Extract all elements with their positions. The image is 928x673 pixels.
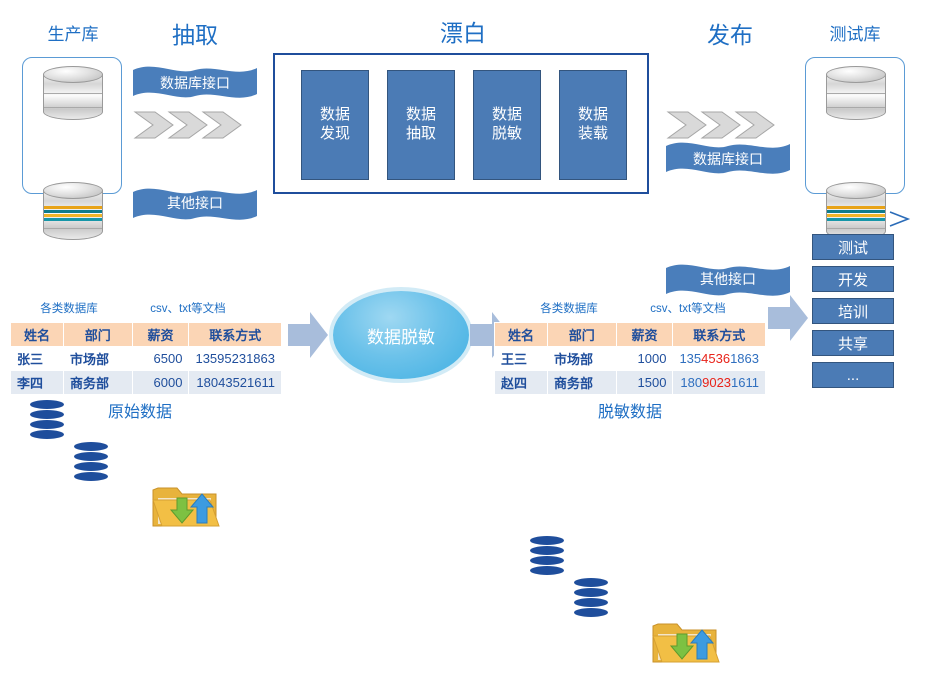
table-row: 赵四 商务部 1500 18090231611	[495, 371, 766, 395]
step-3-line1: 数据	[492, 106, 522, 123]
th-salary: 薪资	[616, 323, 673, 347]
target-database-panel	[805, 57, 905, 194]
phone-suffix: 1611	[731, 375, 759, 390]
output-button-dev[interactable]: 开发	[812, 266, 894, 292]
step-2-line2: 抽取	[406, 125, 436, 142]
source-caption: 原始数据	[40, 398, 240, 422]
block-right-arrow-icon-in	[288, 312, 328, 358]
extract-banner-top: 数据库接口	[133, 64, 257, 102]
cell-name: 张三	[11, 347, 64, 371]
masked-file-label: csv、txt等文档	[640, 300, 736, 316]
cell-phone: 18090231611	[673, 371, 766, 395]
bleach-process-panel: 数据 发现 数据 抽取 数据 脱敏 数据 装载	[273, 53, 649, 194]
publish-banner-top: 数据库接口	[666, 140, 790, 178]
extract-banner-top-label: 数据库接口	[133, 73, 257, 93]
cell-dept: 市场部	[63, 347, 132, 371]
heading-bleach: 漂白	[398, 14, 528, 48]
masked-data-table: 姓名 部门 薪资 联系方式 王三 市场部 1000 13545361863 赵四…	[494, 322, 766, 395]
publish-banner-top-label: 数据库接口	[666, 149, 790, 169]
table-row: 王三 市场部 1000 13545361863	[495, 347, 766, 371]
output-button-share[interactable]: 共享	[812, 330, 894, 356]
cell-phone: 13595231863	[189, 347, 282, 371]
publish-banner-bottom: 其他接口	[666, 260, 790, 298]
table-header-row: 姓名 部门 薪资 联系方式	[495, 323, 766, 347]
chevron-arrows-icon-2	[666, 110, 790, 140]
masked-db-label: 各类数据库	[518, 300, 620, 316]
cell-salary: 1500	[616, 371, 673, 395]
output-button-test[interactable]: 测试	[812, 234, 894, 260]
th-name: 姓名	[495, 323, 548, 347]
step-3-line2: 脱敏	[492, 125, 522, 142]
step-box-3[interactable]: 数据 脱敏	[473, 70, 541, 180]
folder-transfer-icon-2	[650, 616, 722, 668]
data-masking-process-node[interactable]: 数据脱敏	[333, 291, 469, 379]
masked-caption: 脱敏数据	[530, 398, 730, 422]
cell-phone: 18043521611	[189, 371, 282, 395]
cell-name: 赵四	[495, 371, 548, 395]
step-4-line2: 装载	[578, 125, 608, 142]
heading-extract: 抽取	[140, 16, 250, 50]
cell-salary: 6500	[132, 347, 189, 371]
output-button-test-label: 测试	[838, 237, 868, 258]
th-name: 姓名	[11, 323, 64, 347]
output-button-training[interactable]: 培训	[812, 298, 894, 324]
cell-salary: 6000	[132, 371, 189, 395]
th-phone: 联系方式	[189, 323, 282, 347]
database-stack-icon	[43, 66, 103, 120]
folder-transfer-icon	[150, 480, 222, 532]
output-button-more-label: ...	[847, 367, 860, 384]
phone-suffix: 1863	[730, 351, 759, 366]
source-db-label: 各类数据库	[18, 300, 120, 316]
cell-dept: 商务部	[547, 371, 616, 395]
phone-prefix: 180	[680, 375, 702, 390]
chevron-arrows-icon	[133, 110, 257, 140]
source-database-panel	[22, 57, 122, 194]
publish-banner-bottom-label: 其他接口	[666, 269, 790, 289]
th-dept: 部门	[63, 323, 132, 347]
cell-phone: 13545361863	[673, 347, 766, 371]
cell-dept: 商务部	[63, 371, 132, 395]
cell-salary: 1000	[616, 347, 673, 371]
output-button-more[interactable]: ...	[812, 362, 894, 388]
step-box-2[interactable]: 数据 抽取	[387, 70, 455, 180]
blue-database-icon-4	[574, 578, 608, 620]
th-salary: 薪资	[132, 323, 189, 347]
source-file-label: csv、txt等文档	[140, 300, 236, 316]
block-right-arrow-icon-outputs	[768, 295, 808, 341]
step-1-line1: 数据	[320, 106, 350, 123]
diagram-canvas: 生产库 抽取 漂白 发布 测试库 数据库接口	[0, 0, 928, 434]
phone-masked: 4536	[701, 351, 730, 366]
output-button-training-label: 培训	[838, 301, 868, 322]
table-row: 李四 商务部 6000 18043521611	[11, 371, 282, 395]
step-box-1[interactable]: 数据 发现	[301, 70, 369, 180]
step-2-line1: 数据	[406, 106, 436, 123]
phone-masked: 9023	[702, 375, 731, 390]
table-row: 张三 市场部 6500 13595231863	[11, 347, 282, 371]
blue-database-icon-3	[530, 536, 564, 578]
cell-name: 王三	[495, 347, 548, 371]
heading-publish: 发布	[675, 16, 785, 50]
cell-dept: 市场部	[547, 347, 616, 371]
output-button-share-label: 共享	[838, 333, 868, 354]
data-masking-label: 数据脱敏	[367, 323, 435, 348]
step-box-4[interactable]: 数据 装载	[559, 70, 627, 180]
phone-prefix: 135	[679, 351, 701, 366]
table-header-row: 姓名 部门 薪资 联系方式	[11, 323, 282, 347]
step-4-line1: 数据	[578, 106, 608, 123]
heading-source-db: 生产库	[18, 20, 128, 45]
blue-database-icon-2	[74, 442, 108, 484]
long-right-arrow-icon	[14, 210, 914, 228]
heading-target-db: 测试库	[800, 20, 910, 45]
source-data-table: 姓名 部门 薪资 联系方式 张三 市场部 6500 13595231863 李四…	[10, 322, 282, 395]
step-1-line2: 发现	[320, 125, 350, 142]
th-dept: 部门	[547, 323, 616, 347]
output-button-dev-label: 开发	[838, 269, 868, 290]
database-stack-icon-2	[826, 66, 886, 120]
th-phone: 联系方式	[673, 323, 766, 347]
cell-name: 李四	[11, 371, 64, 395]
